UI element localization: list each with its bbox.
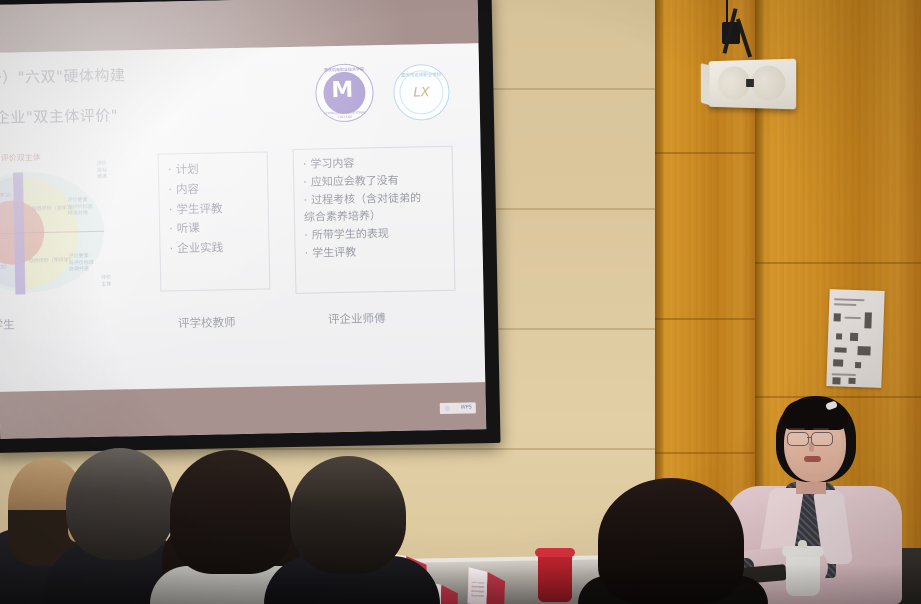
wall-notice-poster <box>826 289 884 388</box>
logo-ring-text-bottom: CHONGQING VOCATIONAL COLLEGE <box>317 110 373 119</box>
diagram-note-0: 评价要素 与评价标准 精准对接 <box>68 197 93 217</box>
presentation-room-photo: （一）"六双"硬体构建 学校企业"双主体评价" 评价双主体 过程评价（助学习） … <box>0 0 921 604</box>
presenter-fringe <box>782 400 848 430</box>
red-cup <box>538 552 572 602</box>
slide-bottom-band <box>0 382 486 439</box>
list-item: 企业实践 <box>169 238 259 260</box>
projected-slide: （一）"六双"硬体构建 学校企业"双主体评价" 评价双主体 过程评价（助学习） … <box>0 0 486 439</box>
column-label-school-teachers: 评学校教师 <box>178 314 236 331</box>
glasses-lens-left <box>787 432 809 446</box>
diagram-label-3: 终结评价（评学习） <box>0 265 10 273</box>
diagram-label-4: 综合评价（学评学） <box>29 257 74 265</box>
seal-mark-letters: LX <box>394 85 448 101</box>
column-label-students: 评学生 <box>0 317 15 334</box>
university-logo-icon: 重庆机电职业技术学院 M CHONGQING VOCATIONAL COLLEG… <box>315 63 374 122</box>
audience-member-4-head <box>290 456 406 574</box>
diagram-corner-note-1: 评价 主体 <box>101 275 111 288</box>
slide-title-secondary: 学校企业"双主体评价" <box>0 104 118 128</box>
audience-member-5-head <box>598 478 744 604</box>
slide-title-primary: （一）"六双"硬体构建 <box>0 64 126 88</box>
glasses-lens-right <box>811 432 833 446</box>
seal-ring-text: 重庆市龙成职业学校 <box>394 72 448 79</box>
mug-knob <box>798 540 807 548</box>
glasses-bridge <box>807 437 812 438</box>
diagram-corner-note-0: 评价 目标 维度 <box>97 161 107 181</box>
audience-member-3-head <box>170 450 292 574</box>
list-item: 听课 <box>169 218 259 240</box>
diagram-label-0: 过程评价（助学习） <box>0 193 15 201</box>
presenter-nose <box>809 442 814 452</box>
presenter-eyebrow-left <box>789 428 805 430</box>
wall-speaker <box>709 59 797 110</box>
presenter-eyebrow-right <box>813 428 829 430</box>
bullet-box-school-teacher: 计划 内容 学生评教 听课 企业实践 <box>158 151 271 291</box>
evaluation-diagram: 评价双主体 过程评价（助学习） 结果评价（检学习） 增值评价（测学习） 终结评价… <box>0 152 120 300</box>
column-label-enterprise-mentors: 评企业师傅 <box>328 310 386 327</box>
watermark-text: WPS <box>461 404 472 410</box>
list-item: 学生评教 <box>169 198 259 220</box>
audience-member-2-head <box>66 448 174 560</box>
name-tent-card <box>467 569 504 604</box>
list-item: 计划 <box>168 159 258 181</box>
bullet-box-enterprise-mentor: 学习内容 应知应会教了没有 过程考核（含对徒弟的 综合素养培养） 所带学生的表现… <box>293 146 456 294</box>
presenter-mouth <box>804 456 821 462</box>
projection-screen: （一）"六双"硬体构建 学校企业"双主体评价" 评价双主体 过程评价（助学习） … <box>0 0 501 453</box>
diagram-note-1: 评价要素 与评价标准 协调共进 <box>69 253 94 273</box>
slide-watermark: WPS <box>440 402 476 414</box>
diagram-title: 评价双主体 <box>1 152 41 164</box>
list-item: 内容 <box>168 178 258 200</box>
white-travel-mug <box>786 552 820 596</box>
logo-mark-letter: M <box>331 80 351 102</box>
list-item: 学生评教 <box>305 242 445 263</box>
